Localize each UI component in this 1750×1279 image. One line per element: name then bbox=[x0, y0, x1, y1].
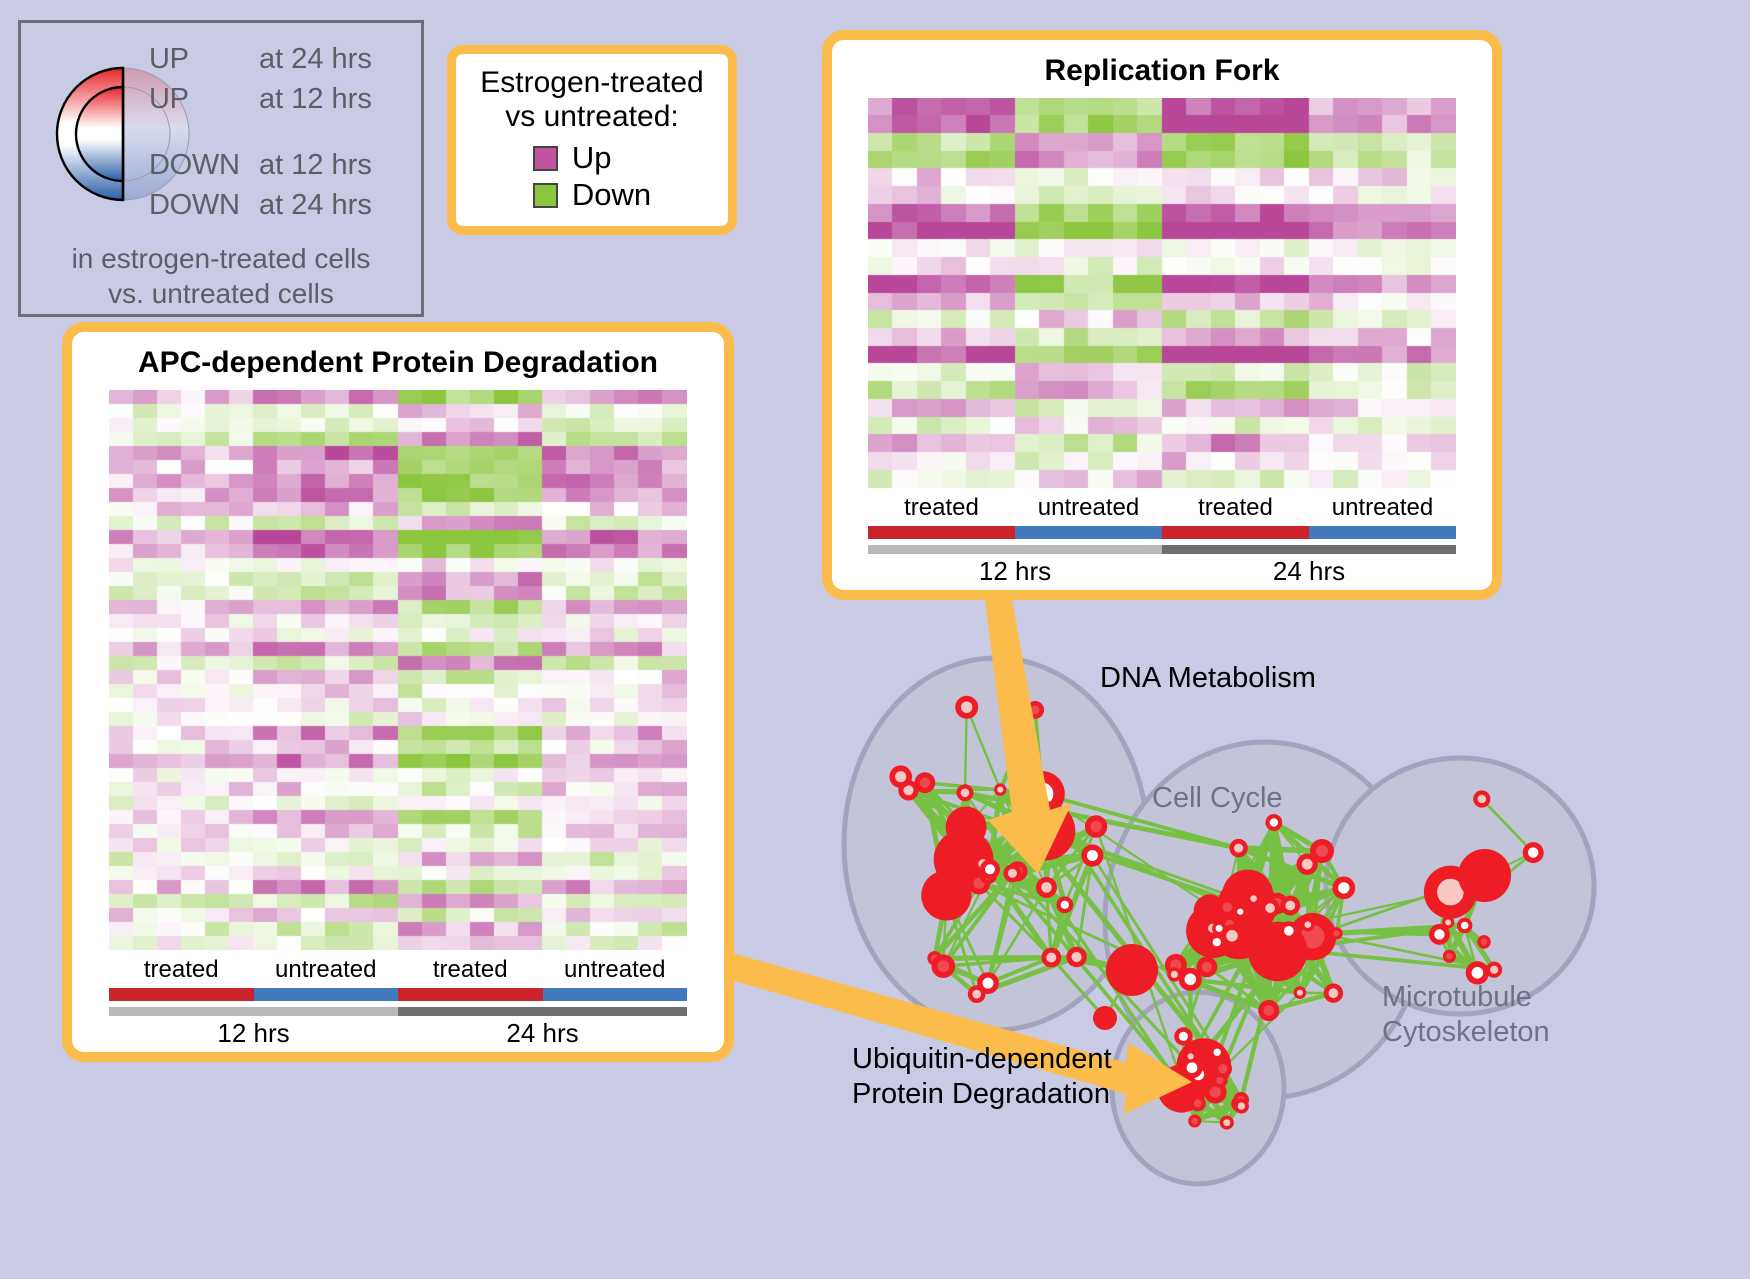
node-inner-core bbox=[985, 864, 995, 874]
label-text-line2: Cytoskeleton bbox=[1382, 1015, 1550, 1050]
network-node[interactable] bbox=[1457, 918, 1472, 933]
node-inner-core bbox=[1316, 845, 1328, 857]
network-label-cell-cycle: Cell Cycle bbox=[1152, 782, 1283, 815]
panel-title-replication-fork: Replication Fork bbox=[832, 54, 1492, 88]
node-outer-ring bbox=[946, 807, 987, 848]
network-node[interactable] bbox=[968, 985, 986, 1003]
node-inner-core bbox=[1008, 869, 1017, 878]
network-diagram bbox=[800, 620, 1750, 1279]
ring-footer-line2: vs. untreated cells bbox=[21, 276, 421, 311]
node-inner-core bbox=[1188, 1053, 1194, 1059]
node-inner-core bbox=[1297, 990, 1303, 996]
network-node[interactable] bbox=[915, 772, 936, 793]
network-node[interactable] bbox=[1093, 1006, 1117, 1030]
network-label-microtubule-cytoskeleton: Microtubule Cytoskeleton bbox=[1382, 980, 1550, 1050]
heatmap-apc-degradation bbox=[109, 390, 687, 950]
group-label: untreated bbox=[1309, 494, 1456, 526]
group-label: treated bbox=[868, 494, 1015, 526]
node-inner-core bbox=[1284, 926, 1294, 936]
network-node[interactable] bbox=[1266, 814, 1283, 831]
axis-apc-degradation: treated untreated treated untreated 12 h… bbox=[109, 956, 687, 1049]
network-node[interactable] bbox=[1258, 1000, 1279, 1021]
network-node[interactable] bbox=[1332, 877, 1355, 900]
node-inner-core bbox=[1091, 821, 1102, 832]
node-inner-core bbox=[1087, 850, 1098, 861]
panel-title-apc: APC-dependent Protein Degradation bbox=[72, 346, 724, 380]
network-node[interactable] bbox=[1294, 986, 1307, 999]
panel-apc-degradation: APC-dependent Protein Degradation treate… bbox=[62, 322, 734, 1062]
ring-value: at 12 hrs bbox=[259, 83, 372, 116]
network-label-ubiquitin-degradation: Ubiquitin-dependent Protein Degradation bbox=[852, 1042, 1112, 1112]
network-node[interactable] bbox=[1458, 849, 1511, 902]
node-inner-core bbox=[1472, 967, 1484, 979]
network-node[interactable] bbox=[1190, 1095, 1206, 1111]
network-node[interactable] bbox=[1085, 815, 1107, 837]
node-inner-core bbox=[1264, 1005, 1275, 1016]
up-swatch-icon bbox=[533, 146, 558, 171]
group-label: untreated bbox=[254, 956, 399, 988]
bar-seg-treated bbox=[109, 988, 254, 1001]
node-inner-core bbox=[1218, 1064, 1227, 1073]
time-label-12hrs: 12 hrs bbox=[868, 556, 1162, 587]
network-node[interactable] bbox=[1030, 806, 1053, 829]
node-inner-core bbox=[895, 771, 906, 782]
network-node[interactable] bbox=[1229, 839, 1247, 857]
group-label: untreated bbox=[1015, 494, 1162, 526]
node-inner-core bbox=[1194, 1099, 1202, 1107]
group-label: treated bbox=[1162, 494, 1309, 526]
node-inner-core bbox=[1270, 818, 1278, 826]
node-inner-core bbox=[1216, 925, 1223, 932]
node-inner-core bbox=[1061, 901, 1069, 909]
node-inner-core bbox=[1237, 909, 1243, 915]
network-node[interactable] bbox=[921, 870, 971, 920]
network-node[interactable] bbox=[1066, 947, 1086, 967]
bar-seg-24hrs bbox=[398, 1007, 687, 1016]
network-node[interactable] bbox=[1301, 918, 1314, 931]
ring-legend-row: UP at 12 hrs bbox=[149, 83, 419, 123]
ring-legend-box: UP at 24 hrs UP at 12 hrs DOWN at 12 hrs… bbox=[18, 20, 424, 317]
network-node[interactable] bbox=[1188, 1115, 1201, 1128]
network-node[interactable] bbox=[1003, 864, 1021, 882]
ring-value: at 24 hrs bbox=[259, 43, 372, 76]
node-inner-core bbox=[1036, 811, 1048, 823]
node-inner-core bbox=[1285, 901, 1295, 911]
legend-item-down: Down bbox=[533, 177, 651, 213]
ring-legend-row: DOWN at 12 hrs bbox=[149, 149, 419, 189]
network-node[interactable] bbox=[980, 859, 1000, 879]
label-text: DNA Metabolism bbox=[1100, 662, 1316, 695]
network-label-dna-metabolism: DNA Metabolism bbox=[1100, 662, 1316, 695]
node-inner-core bbox=[961, 789, 970, 798]
node-inner-core bbox=[1461, 922, 1469, 930]
network-node[interactable] bbox=[1081, 844, 1103, 866]
network-node[interactable] bbox=[1473, 790, 1490, 807]
node-inner-core bbox=[1226, 930, 1238, 942]
network-node[interactable] bbox=[946, 807, 987, 848]
bar-seg-untreated bbox=[1015, 526, 1162, 539]
network-node[interactable] bbox=[889, 765, 912, 788]
network-node[interactable] bbox=[1523, 842, 1544, 863]
bar-seg-24hrs bbox=[1162, 545, 1456, 554]
node-inner-core bbox=[1072, 952, 1082, 962]
label-text-line2: Protein Degradation bbox=[852, 1077, 1112, 1112]
node-inner-core bbox=[1478, 795, 1487, 804]
treatment-color-bar bbox=[109, 988, 687, 1001]
node-inner-core bbox=[1445, 919, 1451, 925]
time-labels: 12 hrs 24 hrs bbox=[109, 1018, 687, 1049]
figure-root: UP at 24 hrs UP at 12 hrs DOWN at 12 hrs… bbox=[0, 0, 1750, 1279]
ring-footer-line1: in estrogen-treated cells bbox=[21, 241, 421, 276]
network-node[interactable] bbox=[1248, 922, 1308, 982]
time-label-24hrs: 24 hrs bbox=[1162, 556, 1456, 587]
ring-key: DOWN bbox=[149, 189, 259, 222]
group-label: untreated bbox=[543, 956, 688, 988]
node-inner-core bbox=[1046, 953, 1056, 963]
node-inner-core bbox=[1265, 903, 1275, 913]
node-inner-core bbox=[961, 702, 972, 713]
node-outer-ring bbox=[921, 870, 971, 920]
node-inner-core bbox=[1192, 1118, 1198, 1124]
time-color-bar bbox=[868, 545, 1456, 554]
ring-key: UP bbox=[149, 83, 259, 116]
network-node[interactable] bbox=[1056, 896, 1073, 913]
network-edge bbox=[965, 707, 967, 793]
ring-key: UP bbox=[149, 43, 259, 76]
network-node[interactable] bbox=[1279, 921, 1298, 940]
node-inner-core bbox=[997, 787, 1003, 793]
bar-seg-12hrs bbox=[868, 545, 1162, 554]
bar-seg-untreated bbox=[1309, 526, 1456, 539]
network-node[interactable] bbox=[1218, 898, 1237, 917]
updown-title-line1: Estrogen-treated bbox=[480, 66, 703, 100]
network-node[interactable] bbox=[1026, 701, 1044, 719]
bar-seg-12hrs bbox=[109, 1007, 398, 1016]
network-node[interactable] bbox=[1167, 967, 1181, 981]
node-inner-core bbox=[983, 978, 994, 989]
group-label: treated bbox=[398, 956, 543, 988]
network-node[interactable] bbox=[1280, 896, 1300, 916]
node-inner-core bbox=[1434, 929, 1444, 939]
updown-title-line2: vs untreated: bbox=[480, 100, 703, 134]
network-node[interactable] bbox=[1443, 950, 1456, 963]
bar-seg-untreated bbox=[254, 988, 399, 1001]
node-inner-core bbox=[1234, 844, 1243, 853]
network-node[interactable] bbox=[1260, 898, 1279, 917]
updown-legend-title: Estrogen-treated vs untreated: bbox=[480, 66, 703, 133]
node-inner-core bbox=[1185, 974, 1197, 986]
node-inner-core bbox=[1329, 988, 1339, 998]
node-inner-core bbox=[1302, 859, 1313, 870]
updown-legend-items: Up Down bbox=[533, 139, 651, 214]
network-node[interactable] bbox=[1174, 1027, 1192, 1045]
node-inner-core bbox=[1213, 938, 1221, 946]
network-node[interactable] bbox=[1220, 1116, 1234, 1130]
network-node[interactable] bbox=[1184, 1050, 1196, 1062]
network-node[interactable] bbox=[994, 783, 1006, 795]
legend-label-up: Up bbox=[572, 140, 612, 176]
legend-item-up: Up bbox=[533, 140, 651, 176]
time-color-bar bbox=[109, 1007, 687, 1016]
network-node[interactable] bbox=[1247, 892, 1260, 905]
node-inner-core bbox=[1210, 1087, 1221, 1098]
bar-seg-untreated bbox=[543, 988, 688, 1001]
network-node[interactable] bbox=[1036, 877, 1057, 898]
time-labels: 12 hrs 24 hrs bbox=[868, 556, 1456, 587]
label-text-line1: Microtubule bbox=[1382, 980, 1550, 1015]
node-inner-core bbox=[1528, 847, 1538, 857]
ring-legend-row: DOWN at 24 hrs bbox=[149, 189, 419, 229]
label-text-line1: Ubiquitin-dependent bbox=[852, 1042, 1112, 1077]
group-label: treated bbox=[109, 956, 254, 988]
bar-seg-treated bbox=[398, 988, 543, 1001]
network-node[interactable] bbox=[932, 954, 956, 978]
node-inner-core bbox=[1031, 706, 1040, 715]
network-node[interactable] bbox=[1106, 944, 1158, 996]
node-inner-core bbox=[972, 990, 981, 999]
node-inner-core bbox=[1338, 882, 1349, 893]
bar-seg-treated bbox=[868, 526, 1015, 539]
ring-key: DOWN bbox=[149, 149, 259, 182]
network-node[interactable] bbox=[1297, 854, 1318, 875]
network-node[interactable] bbox=[957, 784, 974, 801]
node-outer-ring bbox=[1093, 1006, 1117, 1030]
network-node[interactable] bbox=[1214, 1059, 1232, 1077]
network-node[interactable] bbox=[1330, 927, 1342, 939]
treatment-color-bar bbox=[868, 526, 1456, 539]
network-node[interactable] bbox=[955, 696, 978, 719]
node-inner-core bbox=[1333, 930, 1339, 936]
node-inner-core bbox=[1041, 882, 1052, 893]
node-outer-ring bbox=[1248, 922, 1308, 982]
panel-replication-fork: Replication Fork treated untreated treat… bbox=[822, 30, 1502, 600]
axis-replication-fork: treated untreated treated untreated 12 h… bbox=[868, 494, 1456, 587]
network-node[interactable] bbox=[1210, 1045, 1225, 1060]
heatmap-replication-fork bbox=[868, 98, 1456, 488]
node-inner-core bbox=[1214, 1049, 1221, 1056]
network-node[interactable] bbox=[1477, 935, 1491, 949]
node-inner-core bbox=[1187, 1062, 1198, 1073]
node-inner-core bbox=[1223, 903, 1233, 913]
node-outer-ring bbox=[1458, 849, 1511, 902]
legend-label-down: Down bbox=[572, 177, 651, 213]
network-node[interactable] bbox=[1324, 984, 1343, 1003]
ring-legend-rows: UP at 24 hrs UP at 12 hrs DOWN at 12 hrs… bbox=[149, 43, 419, 229]
network-node[interactable] bbox=[1429, 924, 1450, 945]
node-inner-core bbox=[1238, 1102, 1245, 1109]
node-inner-core bbox=[1223, 1119, 1230, 1126]
network-node[interactable] bbox=[1212, 921, 1226, 935]
time-label-12hrs: 12 hrs bbox=[109, 1018, 398, 1049]
network-node[interactable] bbox=[1041, 948, 1061, 968]
node-inner-core bbox=[1171, 971, 1178, 978]
bar-seg-treated bbox=[1162, 526, 1309, 539]
ring-value: at 24 hrs bbox=[259, 189, 372, 222]
node-inner-core bbox=[1051, 825, 1057, 831]
node-inner-core bbox=[1250, 895, 1257, 902]
node-inner-core bbox=[1305, 921, 1312, 928]
node-inner-core bbox=[1446, 953, 1453, 960]
node-outer-ring bbox=[1106, 944, 1158, 996]
node-inner-core bbox=[920, 778, 930, 788]
ring-value: at 12 hrs bbox=[259, 149, 372, 182]
node-inner-core bbox=[1179, 1032, 1188, 1041]
node-inner-core bbox=[937, 960, 949, 972]
network-node[interactable] bbox=[1234, 1099, 1249, 1114]
node-inner-core bbox=[1490, 966, 1498, 974]
time-label-24hrs: 24 hrs bbox=[398, 1018, 687, 1049]
label-text: Cell Cycle bbox=[1152, 782, 1283, 815]
node-inner-core bbox=[1202, 962, 1212, 972]
down-swatch-icon bbox=[533, 183, 558, 208]
ring-legend-row: UP at 24 hrs bbox=[149, 43, 419, 83]
node-inner-core bbox=[1481, 939, 1488, 946]
updown-legend-box: Estrogen-treated vs untreated: Up Down bbox=[447, 45, 737, 235]
ring-legend-footer: in estrogen-treated cells vs. untreated … bbox=[21, 241, 421, 311]
